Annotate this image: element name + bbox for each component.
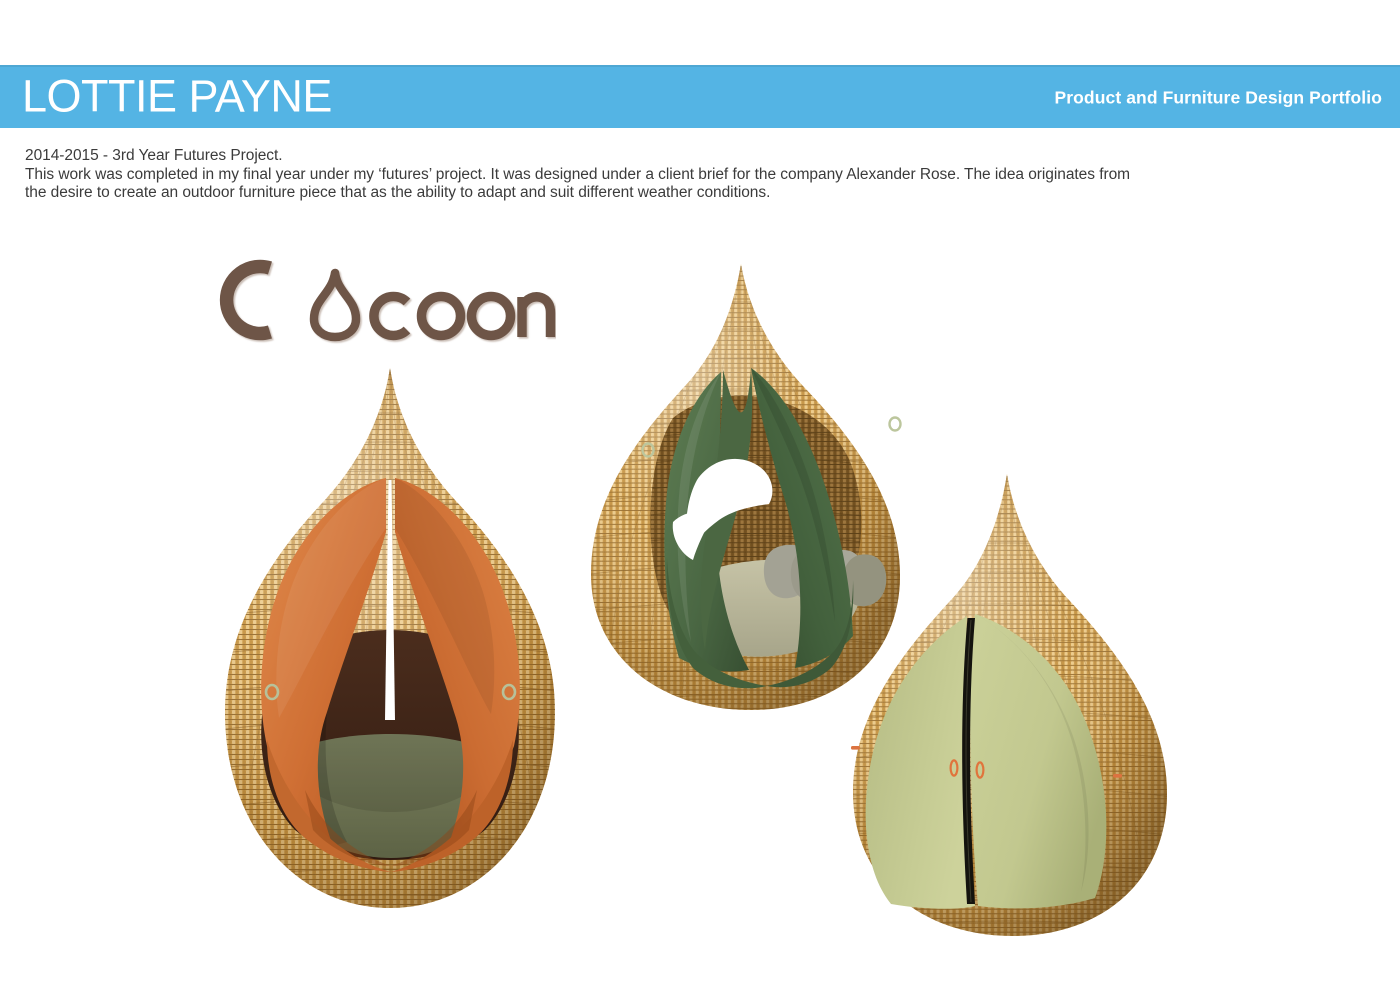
eyelet-icon — [977, 762, 984, 777]
logo-letter-o1 — [422, 297, 461, 336]
canopy-panel-right-middle — [751, 368, 853, 668]
header-band: LOTTIE PAYNE Product and Furniture Desig… — [0, 65, 1400, 128]
canopy-drape-left — [267, 740, 391, 872]
cocoon-shell-middle — [573, 264, 917, 710]
canopy-opening-lower-middle — [673, 512, 713, 560]
cushion — [764, 545, 811, 598]
render-cocoon-closed-olive — [815, 468, 1215, 968]
tie-loop-icon — [643, 444, 654, 457]
tie-loop-icon — [266, 685, 278, 699]
cocoon-seat-left — [275, 734, 507, 858]
logo-letter-o2 — [472, 297, 511, 336]
logo-letter-c2 — [374, 297, 407, 336]
canopy-panel-left-middle — [664, 372, 749, 672]
project-description-line-1: 2014-2015 - 3rd Year Futures Project. — [25, 147, 1355, 166]
project-description-line-3: the desire to create an outdoor furnitur… — [25, 184, 1355, 203]
project-description-line-2: This work was completed in my final year… — [25, 166, 1355, 185]
tie-loop-icon — [503, 685, 515, 699]
rim-tab-icon — [1113, 774, 1122, 778]
eyelet-icon — [951, 760, 958, 775]
logo-letter-c — [227, 267, 270, 334]
canopy-opening-middle — [686, 459, 772, 550]
cover-panel-left — [866, 616, 975, 909]
page-title: LOTTIE PAYNE — [22, 73, 332, 118]
render-cocoon-open-green — [555, 258, 955, 718]
cocoon-interior-left — [261, 630, 519, 860]
tie-loop-icon — [890, 418, 901, 431]
cushion — [791, 547, 838, 601]
cushion — [817, 550, 864, 604]
canopy-drape-right — [391, 740, 513, 872]
canopy-drape-left-middle — [667, 558, 767, 688]
cocoon-shell-right — [835, 474, 1183, 936]
cocoon-logo — [186, 250, 556, 350]
rim-tab-icon — [851, 746, 860, 750]
cocoon-shell-left — [198, 368, 582, 908]
cover-zip — [962, 618, 975, 904]
render-cocoon-open-orange — [155, 360, 625, 940]
canopy-drape-right-middle — [767, 580, 853, 687]
cover-panel-right — [970, 614, 1106, 908]
header-subtitle: Product and Furniture Design Portfolio — [1054, 87, 1382, 107]
cocoon-mattress-middle — [673, 559, 861, 656]
logo-letter-n — [522, 297, 551, 337]
cocoon-interior-middle — [641, 396, 879, 653]
logo-cocoon-mark — [314, 273, 356, 337]
canopy-flap-right — [395, 478, 520, 846]
cushion — [843, 554, 886, 606]
project-description: 2014-2015 - 3rd Year Futures Project. Th… — [25, 147, 1355, 203]
cushion-row-middle — [764, 545, 886, 606]
canopy-centre-gap — [385, 480, 395, 720]
canopy-fold-middle — [701, 370, 752, 650]
canopy-flap-left — [261, 478, 386, 846]
